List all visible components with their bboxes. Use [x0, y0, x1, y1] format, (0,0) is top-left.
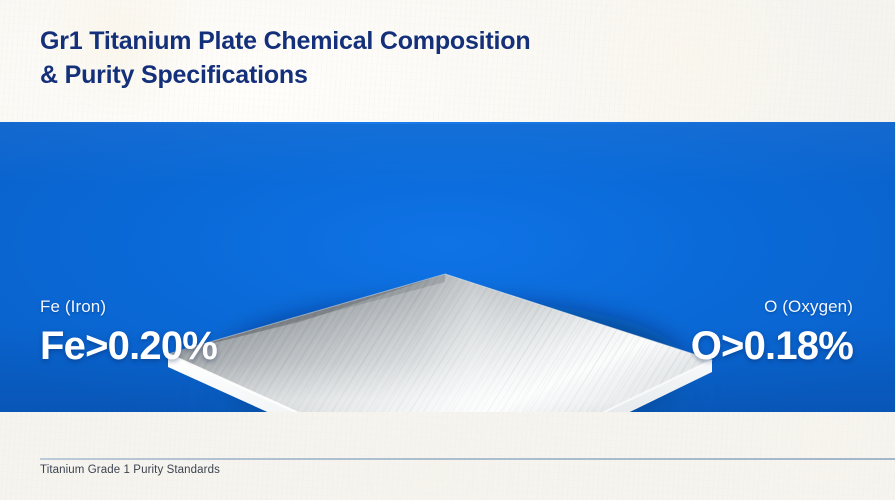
spec-fe: Fe (Iron) Fe>0.20%: [40, 296, 217, 370]
infographic-canvas: Gr1 Titanium Plate Chemical Composition …: [0, 0, 895, 500]
page-title: Gr1 Titanium Plate Chemical Composition …: [40, 24, 740, 92]
spec-fe-value: Fe>0.20%: [40, 322, 217, 370]
footer-divider: [40, 458, 895, 460]
feature-band: Fe (Iron) Fe>0.20% O (Oxygen) O>0.18%: [0, 122, 895, 412]
footer-caption: Titanium Grade 1 Purity Standards: [40, 464, 220, 476]
spec-o-name: O (Oxygen): [691, 296, 853, 318]
spec-o: O (Oxygen) O>0.18%: [691, 296, 853, 370]
spec-fe-name: Fe (Iron): [40, 296, 217, 318]
spec-o-value: O>0.18%: [691, 322, 853, 370]
title-line-2: & Purity Specifications: [40, 58, 740, 92]
title-line-1: Gr1 Titanium Plate Chemical Composition: [40, 24, 740, 58]
